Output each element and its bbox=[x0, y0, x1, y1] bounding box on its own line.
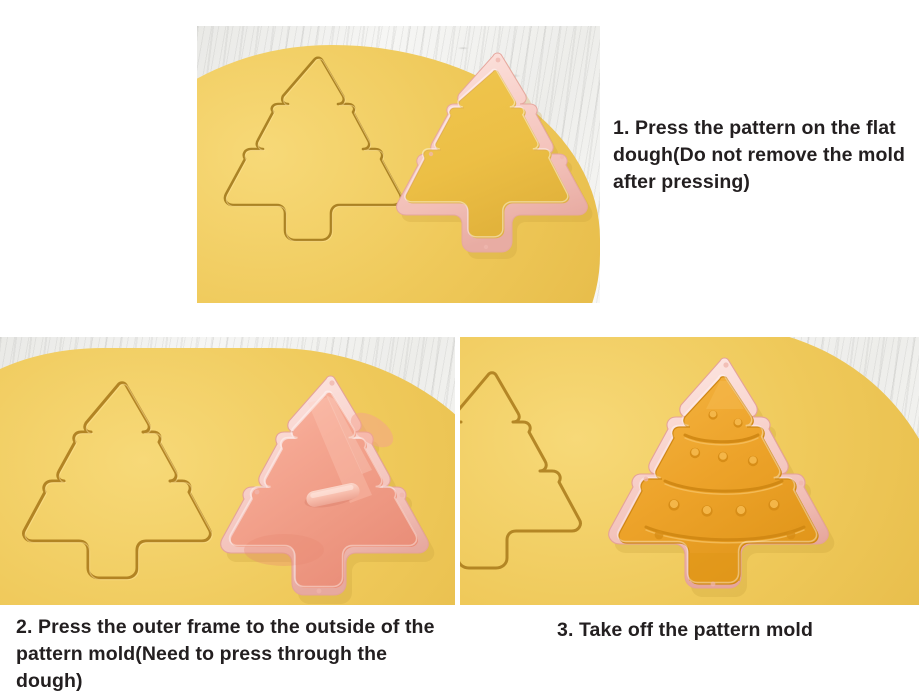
tree-imprint bbox=[24, 383, 212, 580]
panel-step-2 bbox=[0, 337, 455, 605]
panel-step-1 bbox=[197, 26, 600, 303]
caption-step-2: 2. Press the outer frame to the outside … bbox=[16, 614, 456, 695]
pink-outer-frame bbox=[609, 358, 835, 597]
panel-step-3 bbox=[460, 337, 919, 605]
panel-2-artwork bbox=[0, 337, 455, 605]
panel-1-artwork bbox=[197, 26, 600, 303]
pink-outer-frame bbox=[221, 376, 435, 604]
caption-step-1: 1. Press the pattern on the flat dough(D… bbox=[613, 115, 913, 196]
tree-imprint bbox=[225, 58, 402, 242]
caption-step-3: 3. Take off the pattern mold bbox=[557, 617, 917, 644]
panel-3-artwork bbox=[460, 337, 919, 605]
pink-cutter-frame bbox=[397, 53, 593, 259]
tree-imprint bbox=[460, 373, 580, 568]
